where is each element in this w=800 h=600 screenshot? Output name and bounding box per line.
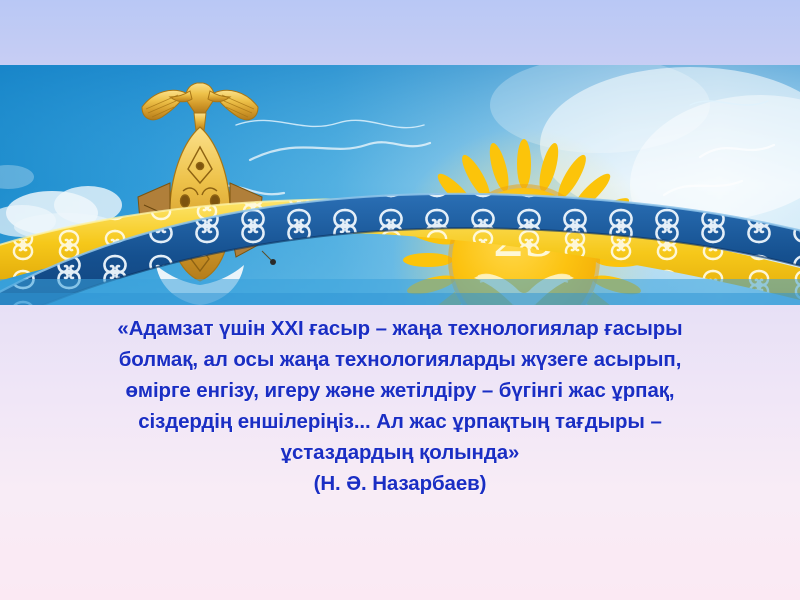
quote-text-block: «Адамзат үшін XXI ғасыр – жаңа технологи…: [0, 313, 800, 499]
quote-line-3: өмірге енгізу, игеру және жетілдіру – бү…: [0, 375, 800, 406]
quote-line-2: болмақ, ал осы жаңа технологияларды жүзе…: [0, 344, 800, 375]
kazakhstan-independence-banner-image: 25: [0, 65, 800, 305]
slide-canvas: 25: [0, 0, 800, 600]
quote-line-1: «Адамзат үшін XXI ғасыр – жаңа технологи…: [0, 313, 800, 344]
quote-attribution: (Н. Ә. Назарбаев): [0, 468, 800, 499]
quote-line-4: сіздердің еншілеріңіз... Ал жас ұрпақтың…: [0, 406, 800, 437]
quote-line-5: ұстаздардың қолында»: [0, 437, 800, 468]
